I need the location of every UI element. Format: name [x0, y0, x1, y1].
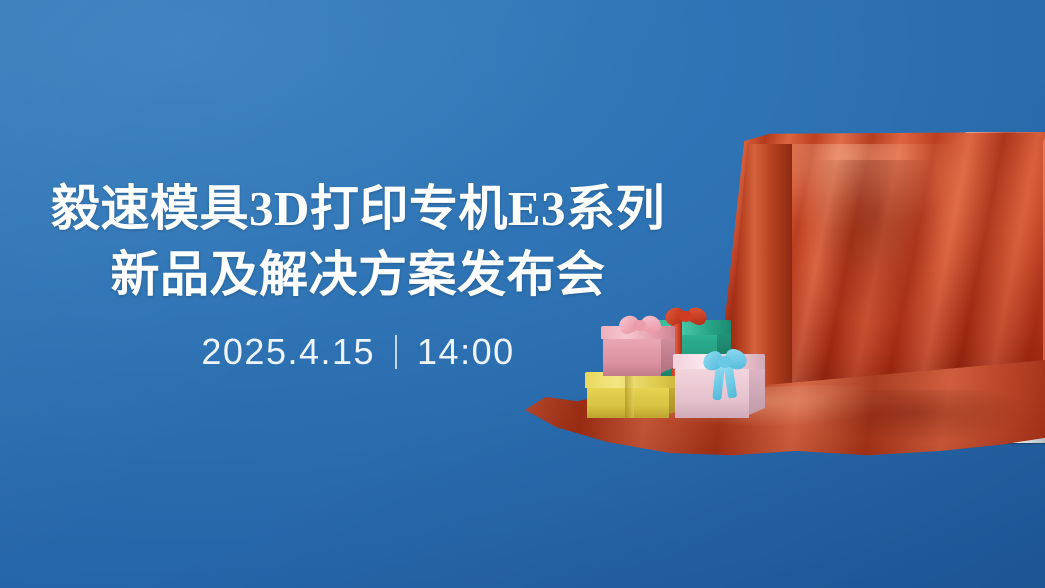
gift-box-side	[749, 365, 765, 415]
event-date: 2025.4.15	[201, 330, 375, 374]
event-time: 14:00	[417, 330, 515, 374]
gift-ribbon-vertical	[625, 372, 634, 418]
poster-text-block: 毅速模具3D打印专机E3系列 新品及解决方案发布会 2025.4.15 14:0…	[0, 176, 716, 374]
poster-datetime: 2025.4.15 14:00	[0, 330, 716, 374]
bow-knot	[718, 356, 732, 368]
event-poster: 毅速模具3D打印专机E3系列 新品及解决方案发布会 2025.4.15 14:0…	[0, 0, 1045, 588]
datetime-separator	[395, 335, 397, 369]
poster-title-line-2: 新品及解决方案发布会	[0, 242, 716, 308]
poster-title-line-1: 毅速模具3D打印专机E3系列	[0, 176, 716, 242]
bow-tail-right	[724, 366, 737, 399]
